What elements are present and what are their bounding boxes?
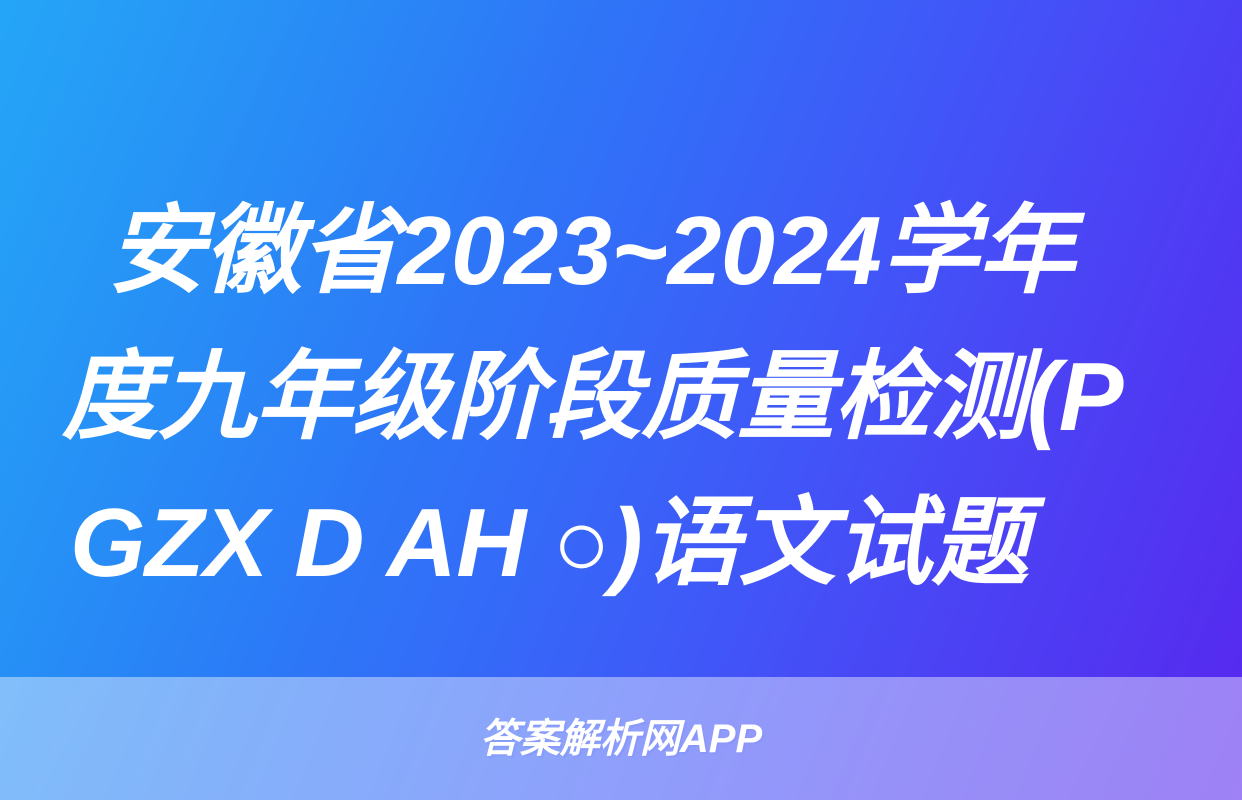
title-line-1: 安徽省2023~2024学年 [52,178,1190,324]
exam-title-card: 安徽省2023~2024学年 度九年级阶段质量检测(P GZX D AH ○)语… [0,0,1242,800]
title-line-3: GZX D AH ○)语文试题 [52,470,1190,616]
footer-watermark-band: 答案解析网APP [0,677,1242,800]
title-block: 安徽省2023~2024学年 度九年级阶段质量检测(P GZX D AH ○)语… [0,178,1242,616]
title-line-2: 度九年级阶段质量检测(P [52,324,1190,470]
app-watermark-label: 答案解析网APP [480,719,762,759]
